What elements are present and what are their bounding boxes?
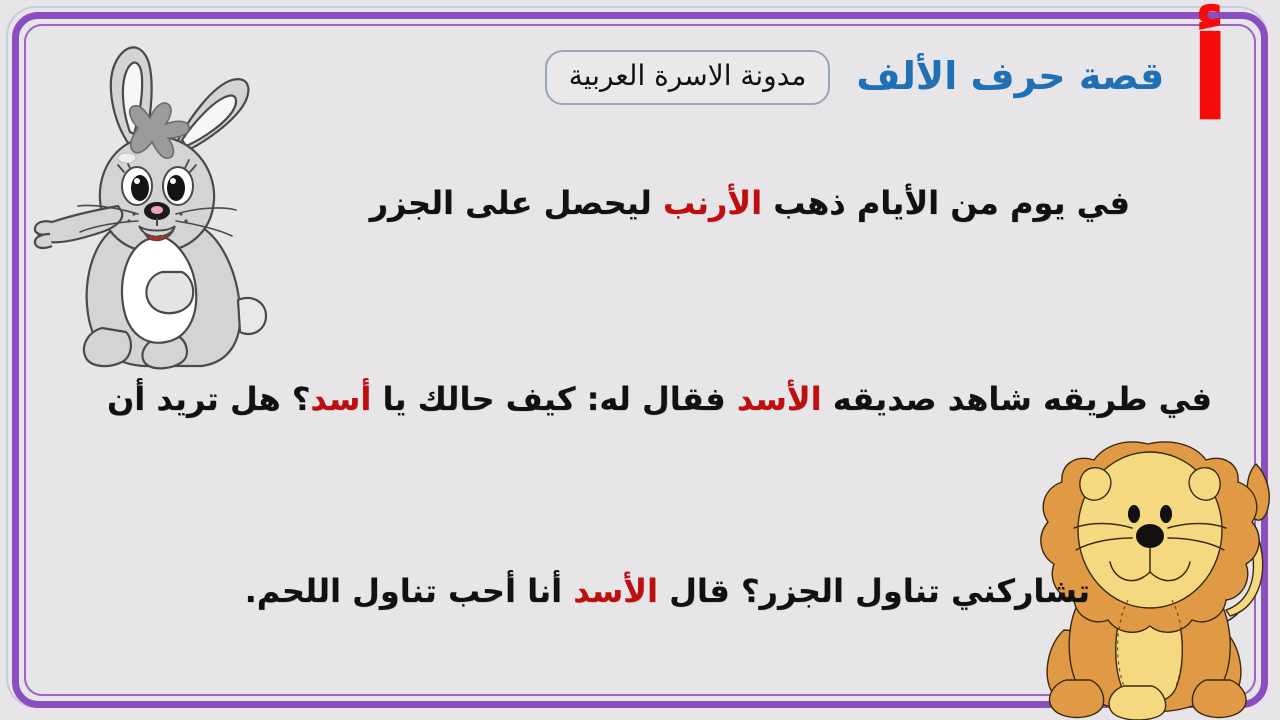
highlighted-word-lion-2: الأسد xyxy=(573,572,658,610)
page-title: قصة حرف الألف xyxy=(856,54,1164,98)
highlighted-word-lion: الأسد xyxy=(737,380,822,418)
story-text-segment: فقال له: كيف حالك يا xyxy=(371,380,737,418)
blog-name-badge: مدونة الاسرة العربية xyxy=(545,50,831,105)
header-row: أ قصة حرف الألف مدونة الاسرة العربية xyxy=(300,38,1234,120)
story-text-segment: تشاركني تناول الجزر؟ قال xyxy=(658,572,1090,610)
story-paragraph-3: تشاركني تناول الجزر؟ قال الأسد أنا أحب ت… xyxy=(50,570,1090,613)
story-text-segment: ؟ هل تريد أن xyxy=(107,380,310,418)
story-text-segment: ليحصل على الجزر xyxy=(370,184,663,222)
highlighted-word-rabbit: الأرنب xyxy=(663,184,762,222)
letter-alif-heading: أ xyxy=(1190,32,1230,127)
story-page: أ قصة حرف الألف مدونة الاسرة العربية في … xyxy=(0,0,1280,720)
highlighted-word-lion-vocative: أسد xyxy=(310,380,371,418)
story-text-segment: في طريقه شاهد صديقه xyxy=(822,380,1212,418)
story-paragraph-2: في طريقه شاهد صديقه الأسد فقال له: كيف ح… xyxy=(60,378,1212,421)
story-text-segment: أنا أحب تناول اللحم. xyxy=(245,572,574,610)
story-paragraph-1: في يوم من الأيام ذهب الأرنب ليحصل على ال… xyxy=(230,182,1130,225)
story-text-segment: في يوم من الأيام ذهب xyxy=(762,184,1130,222)
